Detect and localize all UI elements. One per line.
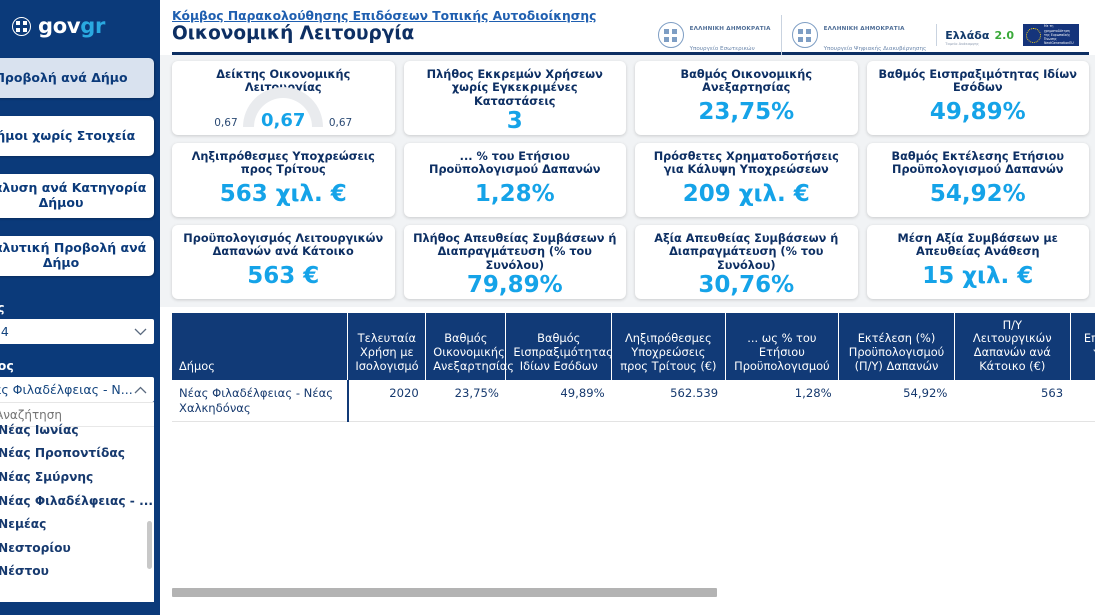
chevron-down-icon: [134, 328, 147, 336]
gauge-chart: 0,67 0,67 0,67: [198, 99, 368, 131]
eu-funding-badge: Με τη χρηματοδότηση της Ευρωπαϊκής Ένωση…: [1023, 24, 1079, 46]
list-item[interactable]: Νέας Σμύρνης: [0, 465, 154, 489]
horizontal-scrollbar-thumb[interactable]: [172, 588, 717, 597]
year-filter-label: Έτος: [0, 300, 154, 315]
table-cell-py-ana-katoiko: 563: [954, 380, 1070, 421]
logo-gov-text: gov: [38, 14, 80, 38]
breadcrumb-link[interactable]: Κόμβος Παρακολούθησης Επιδόσεων Τοπικής …: [172, 9, 596, 23]
sidebar-item-label: Ανάλυση ανά Κατηγορία Δήμου: [0, 181, 148, 211]
kpi-card-oikonomiki-anexartisia[interactable]: Βαθμός Οικονομικής Ανεξαρτησίας 23,75%: [635, 61, 858, 135]
list-item-label: Νέας Προποντίδας: [0, 446, 125, 460]
kpi-title: Βαθμός Οικονομικής Ανεξαρτησίας: [643, 68, 850, 95]
list-item[interactable]: Νεμέας: [0, 512, 154, 536]
eu-stars-icon: [1026, 28, 1041, 43]
kpi-card-prosthetes-xrimatodotiseis[interactable]: Πρόσθετες Χρηματοδοτήσεις για Κάλυψη Υπο…: [635, 143, 858, 217]
eu-line2: της Ευρωπαϊκής Ένωσης: [1044, 33, 1070, 41]
table-cell-teleftaia-xrisi: 2020: [348, 380, 426, 421]
municipality-table: Δήμος Τελευταία Χρήση με Ισολογισμό Βαθμ…: [172, 313, 1095, 423]
year-select[interactable]: 2024: [0, 319, 154, 344]
municipality-filter-label: Δήμος: [0, 358, 154, 373]
ellada-word: Ελλάδα: [945, 29, 989, 42]
sidebar-filters: Έτος 2024 Δήμος Νέας Φιλαδέλφειας - Ν...: [0, 300, 160, 602]
sidebar-nav: Προβολή ανά Δήμο Δήμοι χωρίς Στοιχεία Αν…: [0, 52, 160, 276]
sidebar-item-analytiki-proboli[interactable]: Αναλυτική Προβολή ανά Δήμο: [0, 236, 154, 276]
chevron-up-icon: [134, 386, 147, 394]
page-header: Κόμβος Παρακολούθησης Επιδόσεων Τοπικής …: [160, 0, 1095, 52]
list-item[interactable]: Νέας Προποντίδας: [0, 442, 154, 466]
kpi-title: Μέση Αξία Συμβάσεων με Απευθείας Ανάθεση: [875, 232, 1082, 259]
sidebar-item-label: Αναλυτική Προβολή ανά Δήμο: [0, 241, 148, 271]
list-item-label: Νέας Ιωνίας: [0, 423, 79, 437]
kpi-card-deiktis-oikonomikis-leitourgias[interactable]: Δείκτης Οικονομικής Λειτουργίας 0,67 0,6…: [172, 61, 395, 135]
table-cell-prosthetes-epixorigiseis: [1070, 380, 1095, 421]
kpi-title: ... % του Ετήσιου Προϋπολογισμού Δαπανών: [412, 150, 619, 177]
table-col-dimos[interactable]: Δήμος: [172, 313, 348, 381]
kpi-title: Πλήθος Απευθείας Συμβάσεων ή Διαπραγμάτε…: [412, 232, 619, 273]
table-col-os-pososto[interactable]: ... ως % του Ετήσιου Προϋπολογισμού: [725, 313, 839, 381]
municipality-select[interactable]: Νέας Φιλαδέλφειας - Ν...: [0, 377, 154, 402]
sidebar-item-dimoi-xoris-stoixeia[interactable]: Δήμοι χωρίς Στοιχεία: [0, 116, 154, 156]
kpi-value: 3: [507, 110, 523, 133]
kpi-value: 30,76%: [698, 274, 794, 297]
gauge-max-label: 0,67: [329, 117, 352, 129]
gauge-min-label: 0,67: [214, 117, 237, 129]
kpi-value: 23,75%: [698, 101, 794, 124]
kpi-value: 15 χιλ. €: [922, 265, 1033, 288]
kpi-card-pososto-etisiou-proypologismou[interactable]: ... % του Ετήσιου Προϋπολογισμού Δαπανών…: [404, 143, 627, 217]
page-title: Οικονομική Λειτουργία: [172, 24, 596, 44]
eu-line3: NextGenerationEU: [1044, 41, 1074, 45]
kpi-title: Αξία Απευθείας Συμβάσεων ή Διαπραγμάτευσ…: [643, 232, 850, 273]
table-cell-os-pososto: 1,28%: [725, 380, 839, 421]
ellada-2-0-logo: Ελλάδα 2.0 Ταμείο Ανάκαμψης Με τη χρηματ…: [936, 24, 1087, 46]
kpi-section: Δείκτης Οικονομικής Λειτουργίας 0,67 0,6…: [160, 55, 1095, 307]
kpi-value: 209 χιλ. €: [683, 183, 810, 206]
list-item[interactable]: Νεστορίου: [0, 536, 154, 560]
kpi-card-mesi-axia-symvaseon[interactable]: Μέση Αξία Συμβάσεων με Απευθείας Ανάθεση…: [867, 225, 1090, 299]
kpi-value: 49,89%: [930, 101, 1026, 124]
kpi-card-lixiprothesmes-ypoxreoseis[interactable]: Ληξιπρόθεσμες Υποχρεώσεις προς Τρίτους 5…: [172, 143, 395, 217]
table-cell-dimos: Νέας Φιλαδέλφειας - Νέας Χαλκηδόνας: [172, 380, 348, 421]
page-titles: Κόμβος Παρακολούθησης Επιδόσεων Τοπικής …: [172, 5, 596, 44]
greek-republic-seal-icon: [658, 22, 684, 48]
kpi-title: Πρόσθετες Χρηματοδοτήσεις για Κάλυψη Υπο…: [643, 150, 850, 177]
govgr-logo[interactable]: govgr: [0, 0, 160, 52]
govgr-logo-text: govgr: [38, 16, 105, 37]
gauge-value: 0,67: [261, 110, 305, 131]
kpi-value: 1,28%: [475, 183, 555, 206]
kpi-value: 54,92%: [930, 183, 1026, 206]
list-item[interactable]: Νέας Ιωνίας: [0, 418, 154, 442]
list-item[interactable]: Νέστου: [0, 560, 154, 584]
kpi-card-eispraximotita-idion-esodon[interactable]: Βαθμός Εισπραξιμότητας Ιδίων Εσόδων 49,8…: [867, 61, 1090, 135]
kpi-value: 563 χιλ. €: [220, 183, 347, 206]
municipality-dropdown-panel: Νέας Ιωνίας Νέας Προποντίδας Νέας Σμύρνη…: [0, 402, 154, 602]
table-col-eispraximotita[interactable]: Βαθμός Εισπραξιμότητας Ιδίων Εσόδων: [506, 313, 612, 381]
data-table-section: Δήμος Τελευταία Χρήση με Ισολογισμό Βαθμ…: [160, 307, 1095, 603]
greek-republic-seal-icon: [792, 22, 818, 48]
list-item-label: Νέας Σμύρνης: [0, 470, 93, 484]
kpi-grid: Δείκτης Οικονομικής Λειτουργίας 0,67 0,6…: [172, 61, 1089, 299]
ministry-logo-line2: Υπουργείο Ψηφιακής Διακυβέρνησης: [824, 46, 927, 52]
municipality-select-value: Νέας Φιλαδέλφειας - Ν...: [0, 382, 133, 397]
ellada-sub: Ταμείο Ανάκαμψης: [945, 42, 1014, 46]
greek-republic-seal-icon: [12, 17, 31, 36]
sidebar-item-label: Προβολή ανά Δήμο: [0, 71, 128, 86]
ministry-logos: ΕΛΛΗΝΙΚΗ ΔΗΜΟΚΡΑΤΙΑ Υπουργείο Εσωτερικών…: [648, 5, 1093, 55]
table-row[interactable]: Νέας Φιλαδέλφειας - Νέας Χαλκηδόνας 2020…: [172, 380, 1095, 421]
list-item-label: Νέας Φιλαδέλφειας - ...: [0, 494, 153, 508]
kpi-title: Προϋπολογισμός Λειτουργικών Δαπανών ανά …: [180, 232, 387, 259]
kpi-title: Πλήθος Εκκρεμών Χρήσεων χωρίς Εγκεκριμέν…: [412, 68, 619, 109]
year-select-value: 2024: [0, 324, 9, 339]
table-col-prosthetes-epixorigiseis[interactable]: Πρόσθετες Επιχορηγήσεις για Κάλυψη Υποχ.…: [1070, 313, 1095, 381]
table-col-teleftaia-xrisi[interactable]: Τελευταία Χρήση με Ισολογισμό: [348, 313, 426, 381]
sidebar: govgr Προβολή ανά Δήμο Δήμοι χωρίς Στοιχ…: [0, 0, 160, 615]
kpi-card-ekkremeis-xriseis[interactable]: Πλήθος Εκκρεμών Χρήσεων χωρίς Εγκεκριμέν…: [404, 61, 627, 135]
kpi-card-ektelesi-proypologismou[interactable]: Βαθμός Εκτέλεσης Ετήσιου Προϋπολογισμού …: [867, 143, 1090, 217]
sidebar-item-label: Δήμοι χωρίς Στοιχεία: [0, 129, 135, 144]
table-col-lixiprothesmes[interactable]: Ληξιπρόθεσμες Υποχρεώσεις προς Τρίτους (…: [612, 313, 726, 381]
ellada-version: 2.0: [995, 29, 1015, 42]
kpi-title: Ληξιπρόθεσμες Υποχρεώσεις προς Τρίτους: [180, 150, 387, 177]
dashboard-page: govgr Προβολή ανά Δήμο Δήμοι χωρίς Στοιχ…: [0, 0, 1095, 615]
kpi-value: 563 €: [247, 265, 319, 288]
ministry-logo-line1: ΕΛΛΗΝΙΚΗ ΔΗΜΟΚΡΑΤΙΑ: [690, 26, 771, 32]
logo-gr-text: gr: [80, 14, 105, 38]
kpi-card-plithos-apeftheias-symvaseon[interactable]: Πλήθος Απευθείας Συμβάσεων ή Διαπραγμάτε…: [404, 225, 627, 299]
ministry-logo-line1: ΕΛΛΗΝΙΚΗ ΔΗΜΟΚΡΑΤΙΑ: [824, 26, 905, 32]
list-item-label: Νεστορίου: [0, 541, 71, 555]
main-content: Κόμβος Παρακολούθησης Επιδόσεων Τοπικής …: [160, 0, 1095, 615]
table-header-row: Δήμος Τελευταία Χρήση με Ισολογισμό Βαθμ…: [172, 313, 1095, 381]
table-col-py-ana-katoiko[interactable]: Π/Υ Λειτουργικών Δαπανών ανά Κάτοικο (€): [954, 313, 1070, 381]
table-cell-lixiprothesmes: 562.539: [612, 380, 726, 421]
sidebar-item-proboli-ana-dimo[interactable]: Προβολή ανά Δήμο: [0, 58, 154, 98]
kpi-value: 79,89%: [467, 274, 563, 297]
list-item-selected[interactable]: Νέας Φιλαδέλφειας - ...: [0, 489, 154, 513]
ministry-logo-line2: Υπουργείο Εσωτερικών: [690, 46, 755, 52]
eu-line1: Με τη χρηματοδότηση: [1044, 24, 1070, 32]
list-item-label: Νέστου: [0, 564, 49, 578]
table-col-oikonomiki-anexartisia[interactable]: Βαθμός Οικονομικής Ανεξαρτησίας: [426, 313, 506, 381]
kpi-title: Βαθμός Εκτέλεσης Ετήσιου Προϋπολογισμού …: [875, 150, 1082, 177]
ministry-logo-digital: ΕΛΛΗΝΙΚΗ ΔΗΜΟΚΡΑΤΙΑ Υπουργείο Ψηφιακής Δ…: [781, 15, 937, 55]
table-col-ektelesi[interactable]: Εκτέλεση (%) Προϋπολογισμού (Π/Υ) Δαπανώ…: [839, 313, 955, 381]
ministry-logo-interior: ΕΛΛΗΝΙΚΗ ΔΗΜΟΚΡΑΤΙΑ Υπουργείο Εσωτερικών: [648, 15, 781, 55]
sidebar-item-analysi-ana-katigoria[interactable]: Ανάλυση ανά Κατηγορία Δήμου: [0, 174, 154, 218]
table-cell-eispraximotita: 49,89%: [506, 380, 612, 421]
table-cell-ektelesi: 54,92%: [839, 380, 955, 421]
municipality-option-list: Νέας Ιωνίας Νέας Προποντίδας Νέας Σμύρνη…: [0, 418, 154, 583]
kpi-card-axia-apeftheias-symvaseon[interactable]: Αξία Απευθείας Συμβάσεων ή Διαπραγμάτευσ…: [635, 225, 858, 299]
kpi-title: Βαθμός Εισπραξιμότητας Ιδίων Εσόδων: [875, 68, 1082, 95]
kpi-card-proypologismos-ana-katoiko[interactable]: Προϋπολογισμός Λειτουργικών Δαπανών ανά …: [172, 225, 395, 299]
dropdown-scrollbar[interactable]: [147, 521, 152, 569]
table-cell-oikonomiki-anexartisia: 23,75%: [426, 380, 506, 421]
horizontal-scrollbar-track[interactable]: [172, 588, 1092, 597]
list-item-label: Νεμέας: [0, 517, 46, 531]
